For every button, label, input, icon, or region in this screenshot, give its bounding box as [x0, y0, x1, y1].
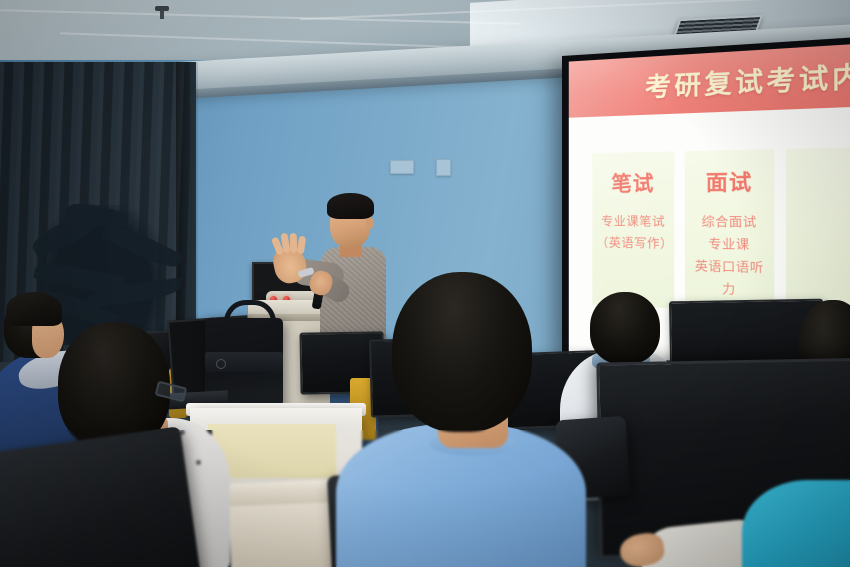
sweater-stud — [196, 460, 201, 465]
slide-card-line: 英语口语听力 — [690, 255, 770, 302]
student-hair — [6, 292, 62, 326]
handbag-clasp — [216, 359, 226, 369]
slide-title: 考研复试考试内容 — [645, 53, 850, 105]
curtain-edge — [176, 62, 198, 362]
chair-back — [0, 426, 202, 567]
slide-card-line: 专业课 — [690, 233, 770, 257]
presenter-finger — [297, 236, 306, 255]
slide-card-heading: 笔试 — [596, 166, 670, 197]
slide-card-line: 专业课笔试 — [596, 211, 670, 233]
sprinkler-stem — [160, 10, 164, 19]
presenter-hair — [327, 193, 374, 219]
slide-card-written-test: 笔试 专业课笔试 （英语写作） — [592, 151, 674, 308]
slide-card-interview: 面试 综合面试 专业课 英语口语听力 — [685, 149, 774, 312]
classroom-photo: 考研复试考试内容 笔试 专业课笔试 （英语写作） 面试 综合面试 专业课 英语口… — [0, 0, 850, 567]
slide-card-line: 综合面试 — [690, 211, 770, 234]
power-outlet-plate — [390, 160, 414, 174]
presenter-ear — [366, 217, 374, 229]
slide-card-heading — [790, 163, 850, 164]
student-white-shirt-head — [590, 292, 660, 364]
slide-header-band: 考研复试考试内容 — [569, 42, 850, 117]
switch-plate — [436, 159, 451, 176]
slide-card-third-cutoff — [786, 147, 850, 317]
student-lightblue-tshirt-head — [392, 272, 532, 432]
slide-card-line: （英语写作） — [596, 232, 670, 255]
slide-card-heading: 面试 — [690, 164, 770, 196]
